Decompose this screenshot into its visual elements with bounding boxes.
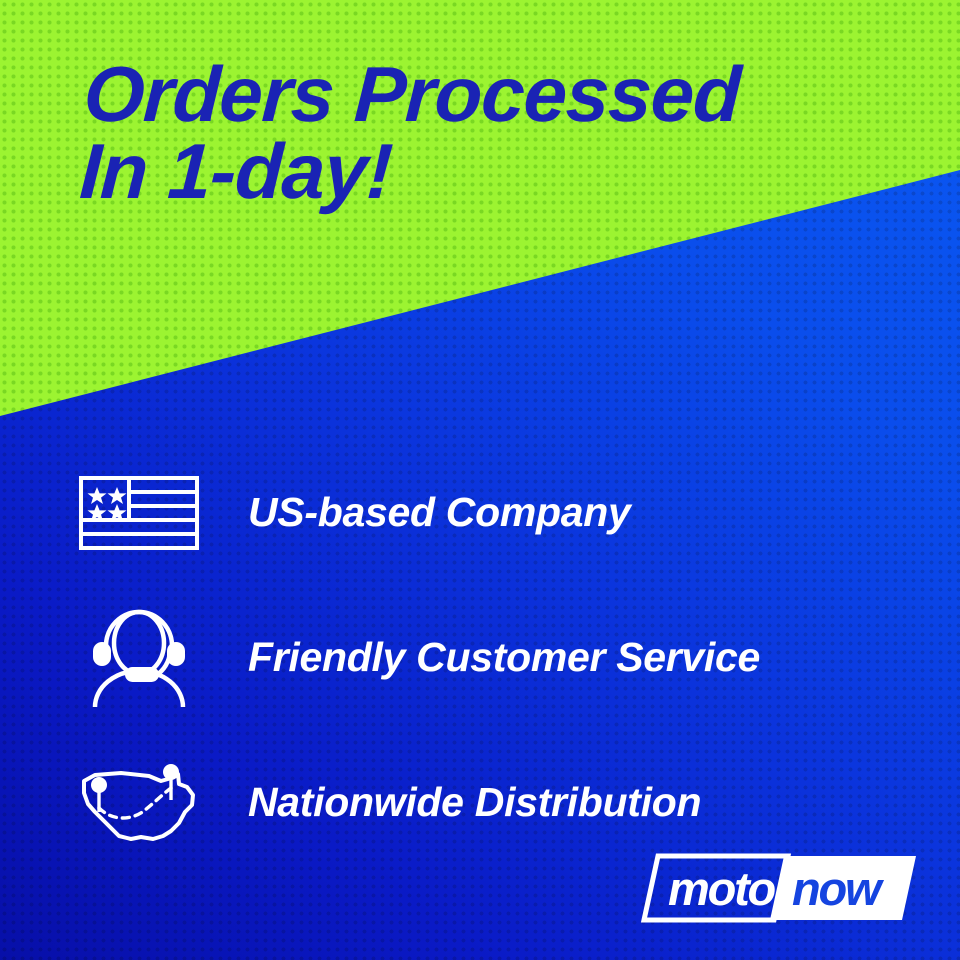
logo-text-now: now bbox=[792, 865, 879, 912]
feature-row-us-based: US-based Company bbox=[0, 440, 960, 585]
feature-label-nationwide: Nationwide Distribution bbox=[248, 779, 701, 826]
feature-row-customer-service: Friendly Customer Service bbox=[0, 585, 960, 730]
feature-label-customer-service: Friendly Customer Service bbox=[248, 634, 760, 681]
us-flag-icon bbox=[74, 475, 204, 551]
us-map-route-icon bbox=[74, 760, 204, 846]
motonow-logo: moto now bbox=[640, 852, 920, 924]
headset-support-icon bbox=[74, 606, 204, 710]
promo-graphic-canvas: Orders Processed In 1-day! bbox=[0, 0, 960, 960]
headline: Orders Processed In 1-day! bbox=[78, 56, 926, 210]
logo-text-moto: moto bbox=[668, 865, 774, 912]
feature-list: US-based Company bbox=[0, 440, 960, 875]
feature-label-us-based: US-based Company bbox=[248, 489, 631, 536]
